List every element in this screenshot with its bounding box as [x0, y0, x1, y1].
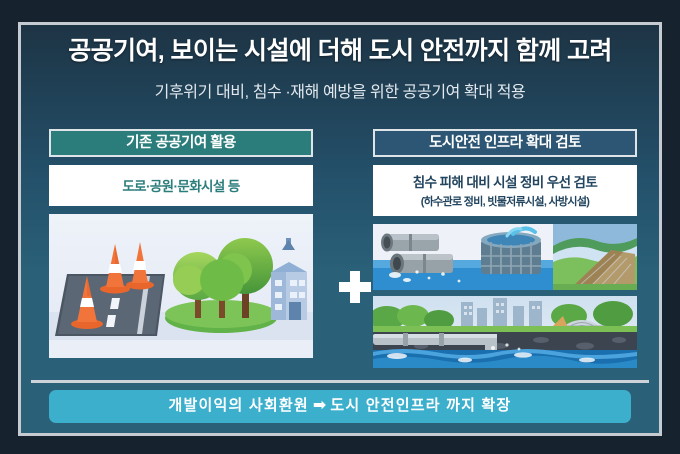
page-title: 공공기여, 보이는 시설에 더해 도시 안전까지 함께 고려: [21, 37, 659, 67]
left-caption-main: 도로·공원·문화시설 등: [53, 175, 309, 195]
road-park-building-illustration: [49, 214, 313, 358]
left-column-image: [49, 214, 313, 358]
sewer-pipe: [390, 254, 453, 274]
plus-icon: [337, 269, 373, 305]
banner-left-text: 개발이익의 사회환원: [169, 397, 309, 414]
banner-right-text: 도시 안전인프라 까지 확장: [330, 397, 511, 414]
left-column-caption: 도로·공원·문화시설 등: [49, 165, 313, 206]
right-column-image-bottom: [373, 296, 637, 368]
summary-banner: 개발이익의 사회환원➡도시 안전인프라 까지 확장: [49, 390, 631, 423]
column-existing-contribution: 기존 공공기여 활용 도로·공원·문화시설 등: [49, 129, 313, 358]
comparison-columns: 기존 공공기여 활용 도로·공원·문화시설 등: [21, 129, 659, 375]
sewer-tank-erosion-illustration: [373, 224, 637, 290]
right-column-heading: 도시안전 인프라 확대 검토: [373, 129, 637, 157]
poster-frame: 공공기여, 보이는 시설에 더해 도시 안전까지 함께 고려 기후위기 대비, …: [18, 22, 662, 436]
left-column-heading: 기존 공공기여 활용: [49, 129, 313, 157]
header-block: 공공기여, 보이는 시설에 더해 도시 안전까지 함께 고려 기후위기 대비, …: [21, 37, 659, 102]
rainwater-tank: [481, 228, 541, 274]
column-safety-infrastructure: 도시안전 인프라 확대 검토 침수 피해 대비 시설 정비 우선 검토 (하수관…: [373, 129, 637, 368]
right-caption-sub: (하수관로 정비, 빗물저류시설, 사방시설): [377, 193, 633, 209]
right-column-caption: 침수 피해 대비 시설 정비 우선 검토 (하수관로 정비, 빗물저류시설, 사…: [373, 165, 637, 216]
page-subtitle: 기후위기 대비, 침수 ·재해 예방을 위한 공공기여 확대 적용: [21, 78, 659, 102]
drainage-pipe-floodwater-illustration: [373, 296, 637, 368]
sewer-pipe: [381, 234, 439, 252]
erosion-barrier: [553, 224, 637, 290]
right-caption-main: 침수 피해 대비 시설 정비 우선 검토: [377, 171, 633, 191]
infographic-poster: 공공기여, 보이는 시설에 더해 도시 안전까지 함께 고려 기후위기 대비, …: [0, 0, 680, 454]
footer-divider: [31, 380, 649, 383]
arrow-right-icon: ➡: [309, 397, 330, 414]
right-column-image-top: [373, 224, 637, 290]
